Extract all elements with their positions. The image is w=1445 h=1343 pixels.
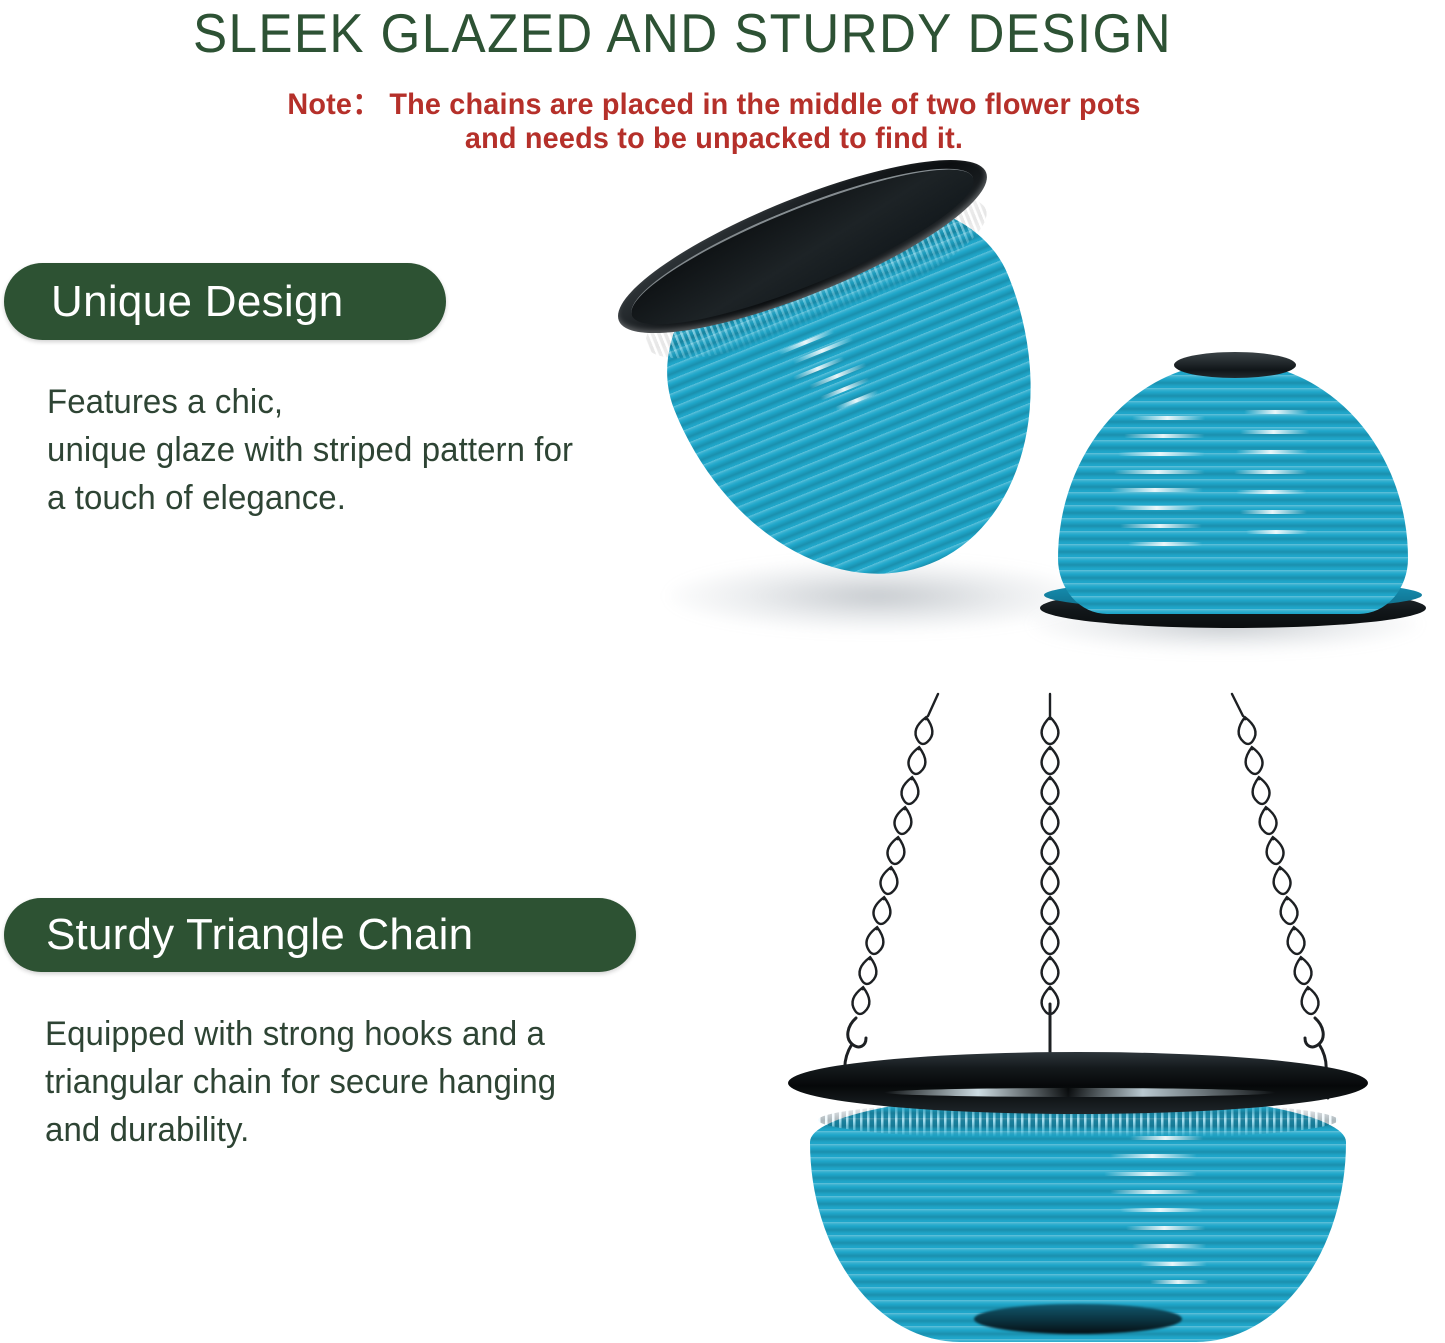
glaze-highlight-streak — [1110, 1154, 1250, 1158]
chain-left — [843, 694, 938, 1098]
glaze-highlight-streak — [1110, 1190, 1254, 1194]
product-pot-hanging — [788, 1052, 1368, 1343]
pot-hanging-rim-gloss — [884, 1088, 1276, 1097]
glaze-highlight-streak — [1126, 1226, 1254, 1230]
glaze-highlight-streak — [1140, 1262, 1248, 1266]
glaze-highlight-streak — [1132, 1244, 1252, 1248]
pot-hanging-rim — [788, 1052, 1368, 1114]
chain-right — [1232, 694, 1328, 1098]
chain-middle — [1042, 694, 1059, 1058]
glaze-highlight-streak — [1120, 1208, 1254, 1212]
pot-hanging-base — [974, 1304, 1182, 1334]
glaze-highlight-streak — [1150, 1280, 1244, 1284]
glaze-highlight-streak — [1104, 1172, 1254, 1176]
